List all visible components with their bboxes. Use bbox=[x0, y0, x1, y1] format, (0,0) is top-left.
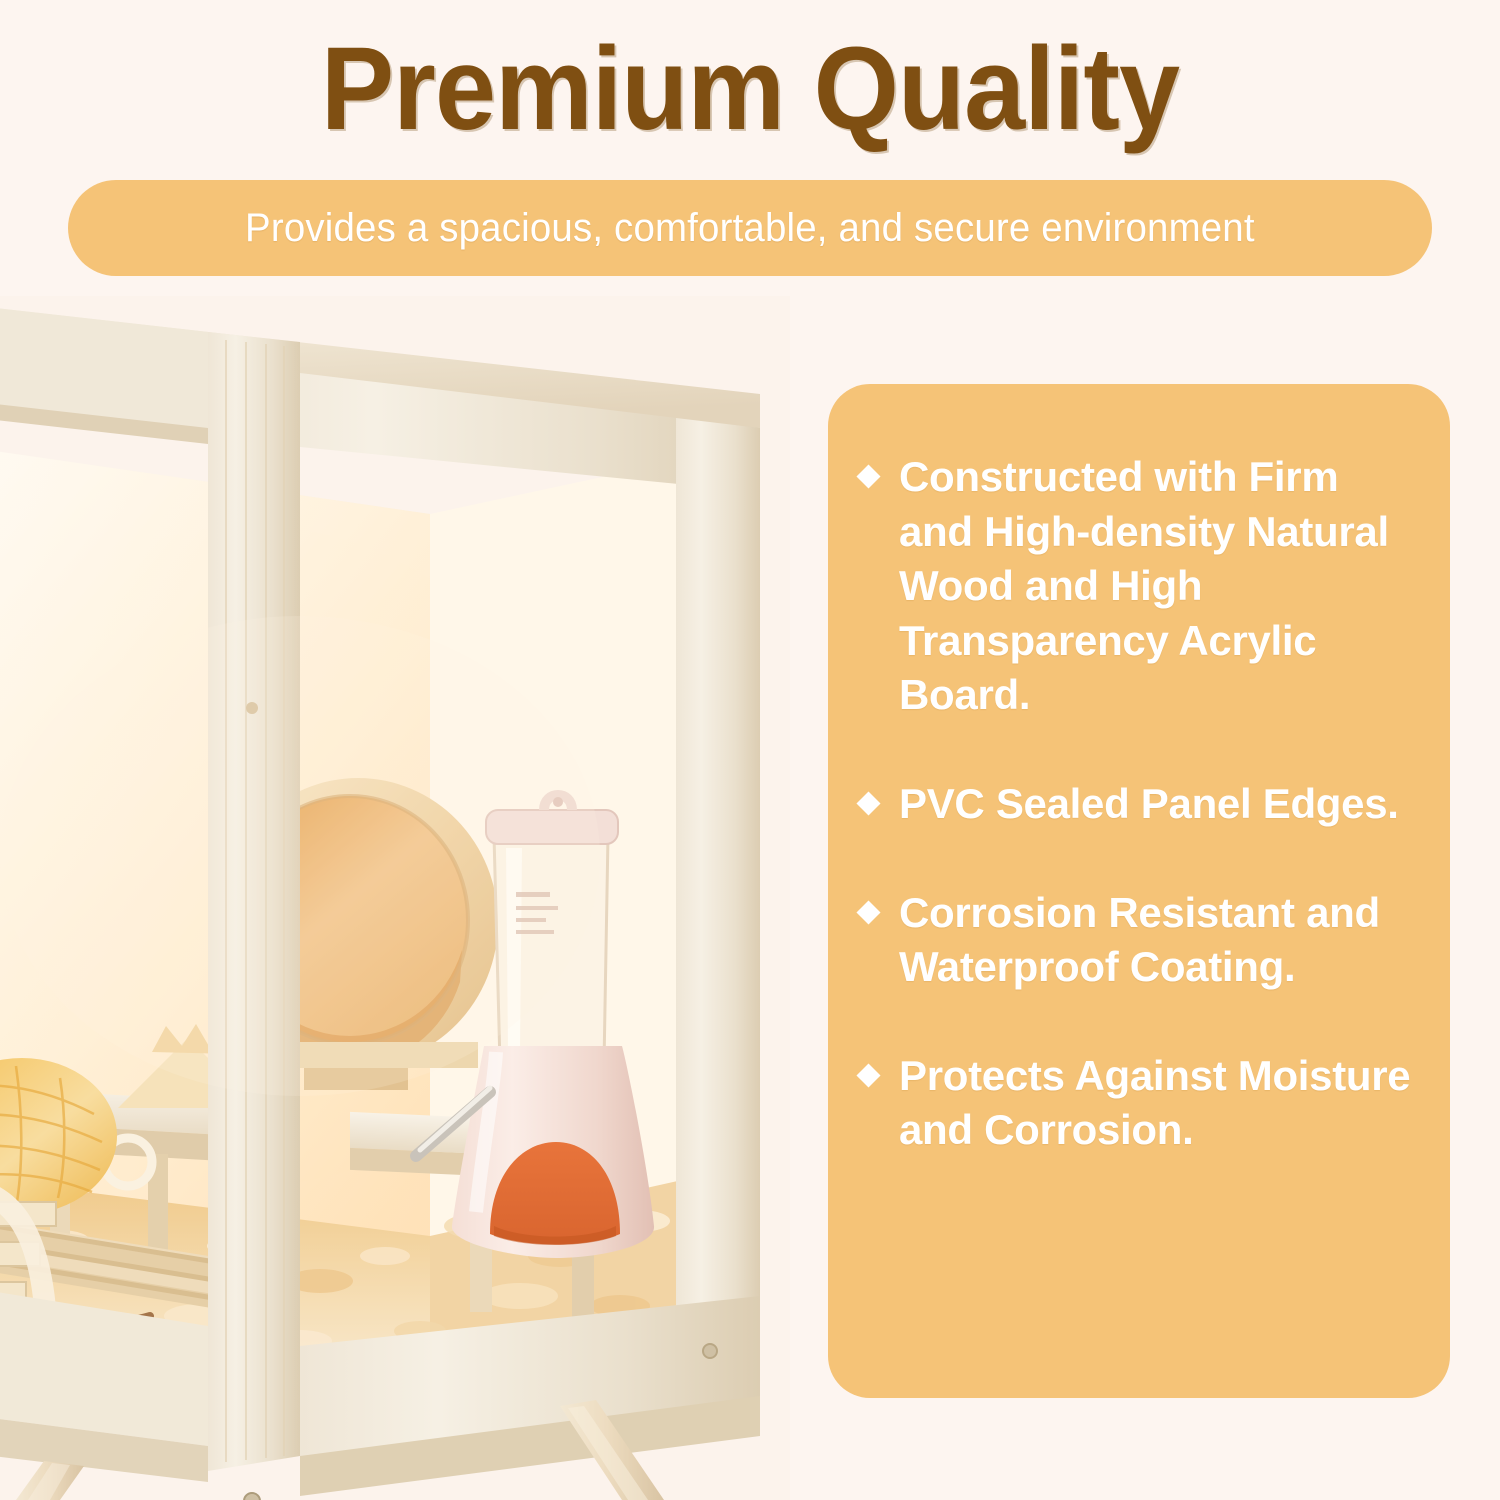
list-item: PVC Sealed Panel Edges. bbox=[860, 777, 1420, 832]
diamond-bullet-icon bbox=[856, 464, 880, 488]
feature-text: PVC Sealed Panel Edges. bbox=[899, 777, 1420, 832]
list-item: Corrosion Resistant and Waterproof Coati… bbox=[860, 886, 1420, 995]
diamond-bullet-icon bbox=[856, 1063, 880, 1087]
hamster-cage-illustration bbox=[0, 296, 790, 1500]
list-item: Protects Against Moisture and Corrosion. bbox=[860, 1049, 1420, 1158]
features-panel: Constructed with Firm and High-density N… bbox=[828, 384, 1450, 1398]
list-item: Constructed with Firm and High-density N… bbox=[860, 450, 1420, 723]
diamond-bullet-icon bbox=[856, 900, 880, 924]
feature-text: Constructed with Firm and High-density N… bbox=[899, 450, 1420, 723]
diamond-bullet-icon bbox=[856, 791, 880, 815]
feature-text: Protects Against Moisture and Corrosion. bbox=[899, 1049, 1420, 1158]
feature-bullet-list: Constructed with Firm and High-density N… bbox=[860, 450, 1420, 1158]
subtitle-text: Provides a spacious, comfortable, and se… bbox=[245, 206, 1255, 251]
page-title: Premium Quality bbox=[53, 26, 1448, 153]
promo-page: Premium Quality Provides a spacious, com… bbox=[0, 0, 1500, 1500]
feature-text: Corrosion Resistant and Waterproof Coati… bbox=[899, 886, 1420, 995]
product-photo bbox=[0, 296, 790, 1500]
subtitle-banner: Provides a spacious, comfortable, and se… bbox=[68, 180, 1432, 276]
